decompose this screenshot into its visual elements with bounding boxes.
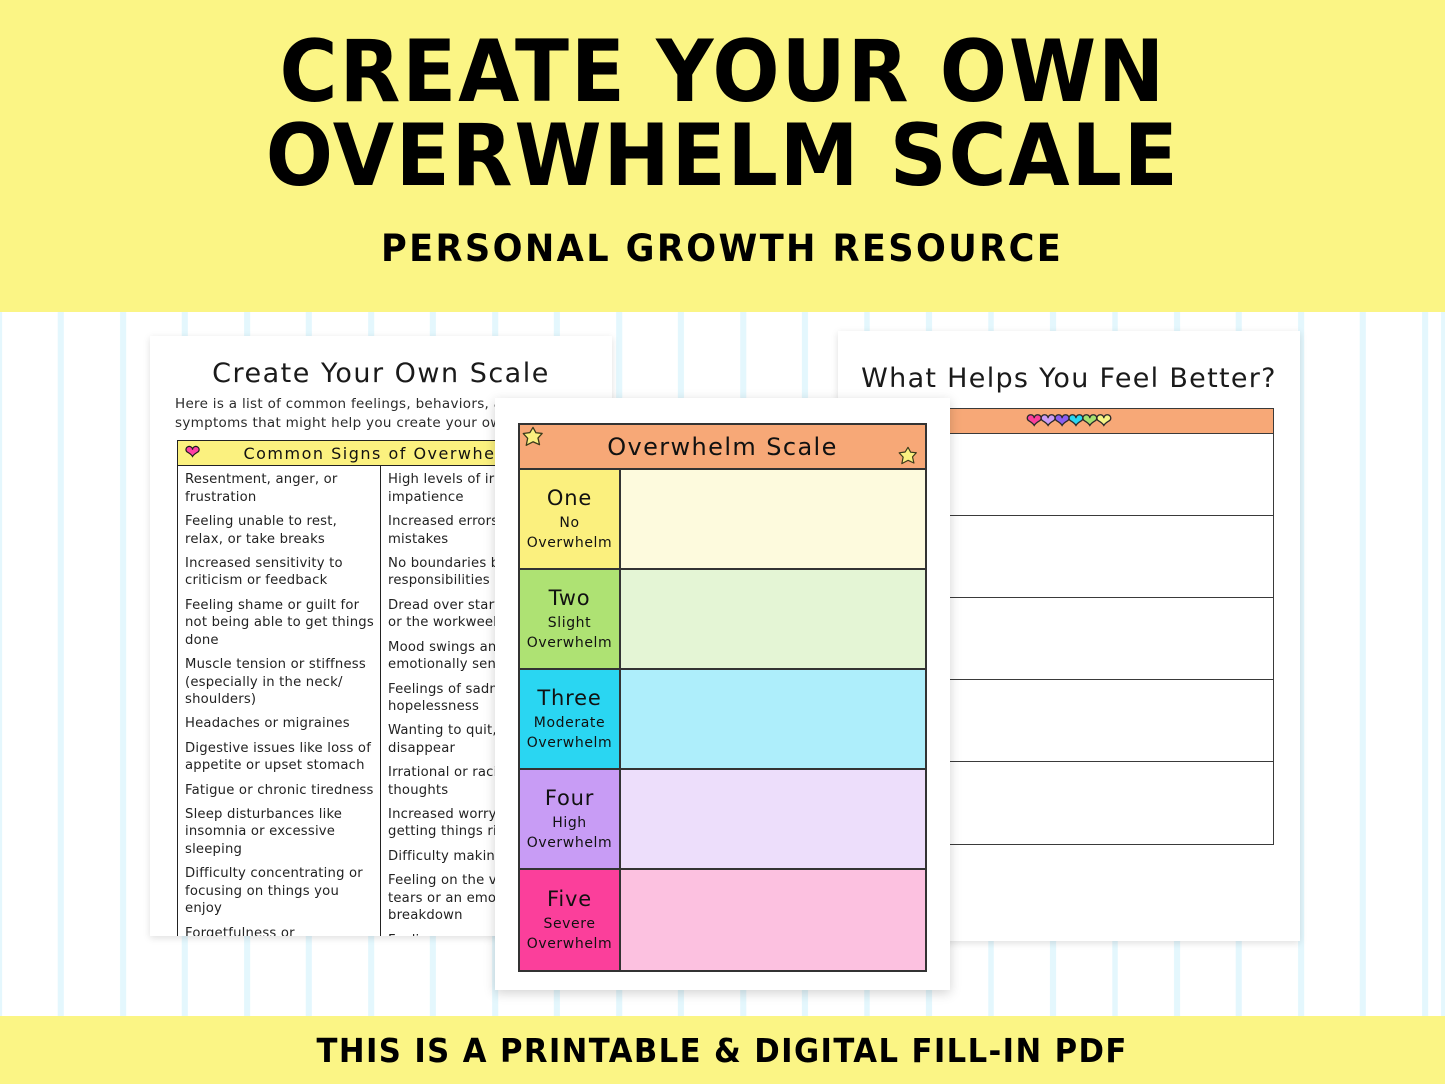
- star-icon: [898, 446, 918, 466]
- scale-row-number: Four: [545, 786, 594, 810]
- overwhelm-scale-rows: OneNoOverwhelmTwoSlightOverwhelmThreeMod…: [520, 470, 925, 970]
- list-item: Headaches or migraines: [185, 715, 374, 732]
- scale-row-descriptor-line-2: Overwhelm: [527, 534, 613, 554]
- bottom-banner: This is a Printable & Digital Fill-In PD…: [0, 1016, 1445, 1084]
- scale-row-descriptor-line-2: Overwhelm: [527, 634, 613, 654]
- scale-row-descriptor-line-1: Severe: [543, 915, 595, 935]
- banner-title-line-2: Overwhelm Scale: [266, 114, 1180, 198]
- overwhelm-scale-page[interactable]: Overwhelm Scale OneNoOverwhelmTwoSlightO…: [495, 398, 950, 990]
- heart-icon: ❤: [1096, 412, 1112, 431]
- scale-row: TwoSlightOverwhelm: [520, 570, 925, 670]
- top-banner: Create Your Own Overwhelm Scale Personal…: [0, 0, 1445, 312]
- scale-row-descriptor-line-2: Overwhelm: [527, 935, 613, 955]
- list-item: Digestive issues like loss of appetite o…: [185, 740, 374, 775]
- scale-row-descriptor-line-1: No: [559, 514, 579, 534]
- scale-row-descriptor-line-2: Overwhelm: [527, 734, 613, 754]
- right-page-title: What Helps You Feel Better?: [838, 363, 1300, 394]
- scale-row-writing-area[interactable]: [621, 870, 925, 970]
- scale-row-descriptor-line-1: Slight: [548, 614, 592, 634]
- overwhelm-scale-table: Overwhelm Scale OneNoOverwhelmTwoSlightO…: [518, 423, 927, 972]
- list-item: Feeling unable to rest, relax, or take b…: [185, 513, 374, 548]
- scale-row: OneNoOverwhelm: [520, 470, 925, 570]
- scale-row-descriptor-line-1: Moderate: [534, 714, 605, 734]
- list-item: Difficulty concentrating or focusing on …: [185, 865, 374, 917]
- scale-row-writing-area[interactable]: [621, 470, 925, 568]
- scale-row-number: Three: [537, 686, 601, 710]
- scale-row-writing-area[interactable]: [621, 570, 925, 668]
- scale-row-label: FourHighOverwhelm: [520, 770, 621, 868]
- scale-row-writing-area[interactable]: [621, 670, 925, 768]
- scale-row-number: Five: [547, 887, 592, 911]
- scale-row-number: Two: [549, 586, 591, 610]
- list-item: Resentment, anger, or frustration: [185, 471, 374, 506]
- list-item: Fatigue or chronic tiredness: [185, 782, 374, 799]
- list-item: Forgetfulness or absentmindedness: [185, 925, 374, 936]
- scale-row-label: FiveSevereOverwhelm: [520, 870, 621, 970]
- scale-row-number: One: [547, 486, 592, 510]
- overwhelm-scale-header: Overwhelm Scale: [520, 425, 925, 470]
- list-item: Increased sensitivity to criticism or fe…: [185, 555, 374, 590]
- scale-row-descriptor-line-2: Overwhelm: [527, 834, 613, 854]
- footer-text: This is a Printable & Digital Fill-In PD…: [317, 1031, 1128, 1070]
- scale-row: ThreeModerateOverwhelm: [520, 670, 925, 770]
- star-icon: [522, 426, 544, 448]
- banner-title-line-1: Create Your Own: [279, 30, 1165, 114]
- scale-row-writing-area[interactable]: [621, 770, 925, 868]
- scale-row-label: ThreeModerateOverwhelm: [520, 670, 621, 768]
- scale-row-label: OneNoOverwhelm: [520, 470, 621, 568]
- signs-column-left: Resentment, anger, or frustrationFeeling…: [178, 466, 381, 936]
- scale-row-descriptor-line-1: High: [552, 814, 587, 834]
- banner-subtitle: Personal Growth Resource: [381, 227, 1063, 270]
- scale-row: FiveSevereOverwhelm: [520, 870, 925, 970]
- left-page-title: Create Your Own Scale: [150, 358, 612, 389]
- list-item: Feeling shame or guilt for not being abl…: [185, 597, 374, 649]
- list-item: Muscle tension or stiffness (especially …: [185, 656, 374, 708]
- scale-row-label: TwoSlightOverwhelm: [520, 570, 621, 668]
- list-item: Sleep disturbances like insomnia or exce…: [185, 806, 374, 858]
- scale-row: FourHighOverwhelm: [520, 770, 925, 870]
- overwhelm-scale-title: Overwhelm Scale: [607, 433, 838, 461]
